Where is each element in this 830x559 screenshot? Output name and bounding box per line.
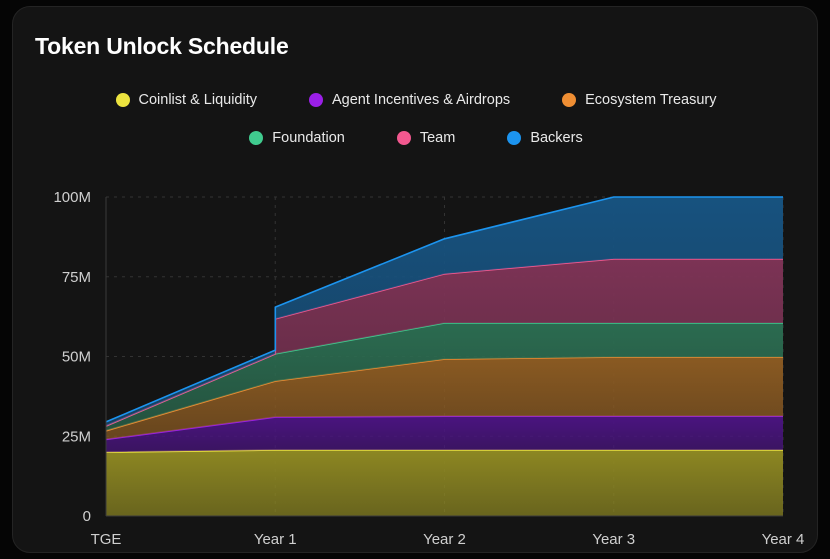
x-axis-tick-label: Year 4: [762, 531, 805, 548]
chart-plot-area: 025M50M75M100M TGEYear 1Year 2Year 3Year…: [13, 7, 818, 553]
y-axis-tick-label: 50M: [62, 349, 91, 366]
area-series-group: [106, 197, 783, 516]
x-axis-labels: TGEYear 1Year 2Year 3Year 4: [91, 531, 805, 548]
x-axis-tick-label: Year 2: [423, 531, 466, 548]
token-unlock-card: Token Unlock Schedule Coinlist & Liquidi…: [12, 6, 818, 553]
y-axis-labels: 025M50M75M100M: [53, 189, 91, 525]
y-axis-tick-label: 0: [83, 508, 91, 525]
stacked-area-chart: 025M50M75M100M TGEYear 1Year 2Year 3Year…: [13, 7, 818, 553]
y-axis-tick-label: 75M: [62, 269, 91, 286]
x-axis-tick-label: Year 3: [592, 531, 635, 548]
x-axis-tick-label: Year 1: [254, 531, 297, 548]
y-axis-tick-label: 100M: [53, 189, 91, 206]
y-axis-tick-label: 25M: [62, 428, 91, 445]
x-axis-tick-label: TGE: [91, 531, 122, 548]
area-coinlist-liquidity[interactable]: [106, 450, 783, 516]
